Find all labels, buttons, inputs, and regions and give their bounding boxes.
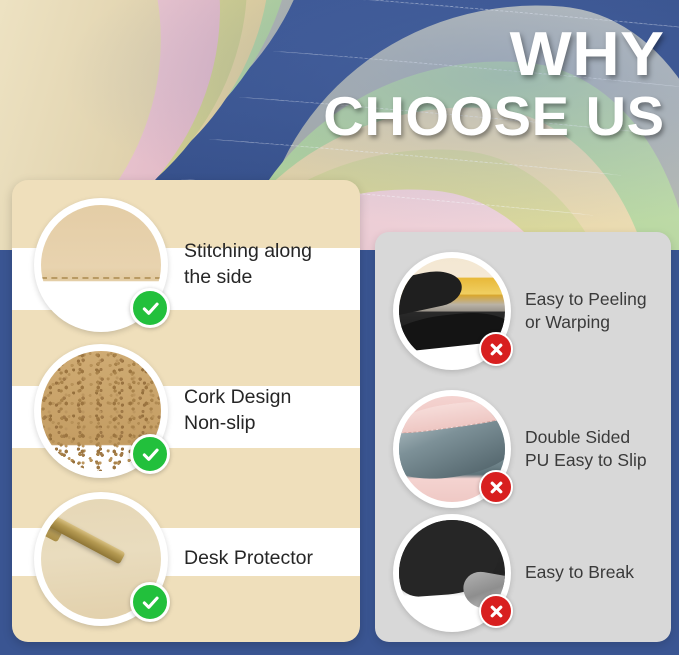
cons-thumb-3	[393, 514, 511, 632]
pros-item-3: Desk Protector	[34, 492, 313, 626]
title-line-2: CHOOSE US	[324, 91, 665, 142]
cross-icon	[479, 332, 513, 366]
cons-item-2: Double Sided PU Easy to Slip	[393, 390, 647, 508]
check-icon	[130, 288, 170, 328]
pros-item-1: Stitching along the side	[34, 198, 312, 332]
cons-item-3: Easy to Break	[393, 514, 634, 632]
cross-icon	[479, 470, 513, 504]
pros-item-2: Cork Design Non-slip	[34, 344, 291, 478]
pros-thumb-1	[34, 198, 168, 332]
cons-label-1: Easy to Peeling or Warping	[525, 288, 647, 335]
cons-thumb-1	[393, 252, 511, 370]
pros-panel: Stitching along the side Cork Design Non…	[12, 180, 360, 642]
cons-label-2: Double Sided PU Easy to Slip	[525, 426, 647, 473]
pros-thumb-2	[34, 344, 168, 478]
infographic-root: WHY CHOOSE US Easy to Peeling or Warping	[0, 0, 679, 655]
page-title: WHY CHOOSE US	[330, 26, 665, 142]
pros-label-2: Cork Design Non-slip	[184, 385, 291, 436]
cons-panel: Easy to Peeling or Warping Double Sided …	[375, 232, 671, 642]
cons-thumb-2	[393, 390, 511, 508]
title-line-1: WHY	[310, 26, 665, 83]
pros-label-1: Stitching along the side	[184, 239, 312, 290]
pros-thumb-3	[34, 492, 168, 626]
check-icon	[130, 582, 170, 622]
cons-label-3: Easy to Break	[525, 561, 634, 584]
cons-item-1: Easy to Peeling or Warping	[393, 252, 647, 370]
pros-label-3: Desk Protector	[184, 546, 313, 572]
cross-icon	[479, 594, 513, 628]
check-icon	[130, 434, 170, 474]
